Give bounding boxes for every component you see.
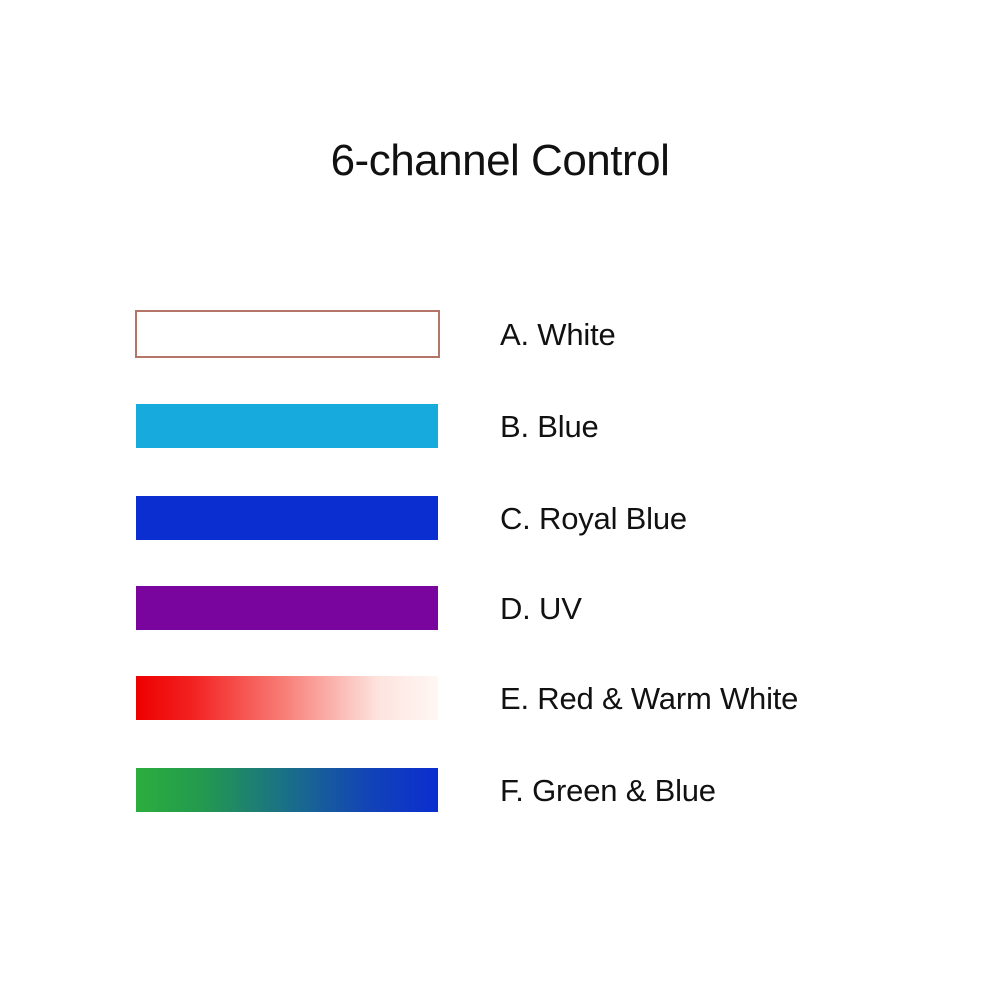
color-swatch-a[interactable] — [135, 310, 440, 358]
legend-row[interactable]: F. Green & Blue — [136, 768, 936, 814]
legend-label-a: A. White — [500, 316, 616, 354]
legend-label-b: B. Blue — [500, 408, 599, 446]
legend-row[interactable]: D. UV — [136, 586, 936, 632]
color-swatch-b[interactable] — [136, 404, 438, 448]
color-swatch-c[interactable] — [136, 496, 438, 540]
legend-row[interactable]: A. White — [136, 312, 936, 358]
legend-row[interactable]: B. Blue — [136, 404, 936, 450]
color-swatch-f[interactable] — [136, 768, 438, 812]
legend-label-f: F. Green & Blue — [500, 772, 716, 810]
legend-label-c: C. Royal Blue — [500, 500, 687, 538]
color-swatch-d[interactable] — [136, 586, 438, 630]
page-title: 6-channel Control — [0, 130, 1000, 192]
color-swatch-e[interactable] — [136, 676, 438, 720]
legend-row[interactable]: C. Royal Blue — [136, 496, 936, 542]
figure-canvas: 6-channel Control A. WhiteB. BlueC. Roya… — [0, 0, 1000, 1000]
legend-row[interactable]: E. Red & Warm White — [136, 676, 936, 722]
legend-label-e: E. Red & Warm White — [500, 680, 798, 718]
channel-legend: A. WhiteB. BlueC. Royal BlueD. UVE. Red … — [136, 312, 936, 822]
legend-label-d: D. UV — [500, 590, 582, 628]
